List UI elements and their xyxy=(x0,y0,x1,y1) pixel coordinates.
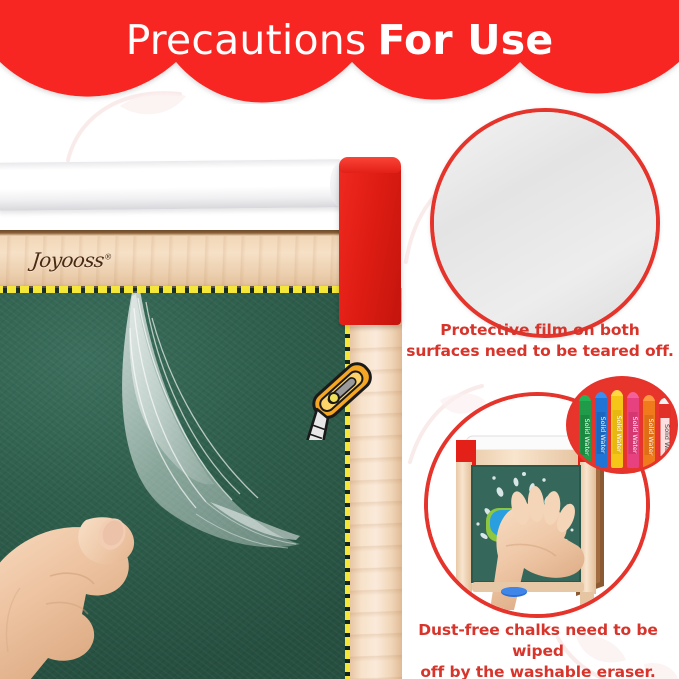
title-light: Precautions xyxy=(126,16,367,64)
title-bold: For Use xyxy=(378,16,554,64)
step-2-caption: Dust-free chalks need to be wiped off by… xyxy=(396,620,679,679)
corner-cap xyxy=(339,160,401,325)
brand-logo: Joyooss® xyxy=(31,248,113,272)
svg-text:Solid Water: Solid Water xyxy=(615,415,623,452)
step-1-caption-line2: surfaces need to be teared off. xyxy=(404,341,676,362)
brand-name: Joyooss xyxy=(31,248,105,272)
step-2-caption-line1: Dust-free chalks need to be wiped xyxy=(396,620,679,662)
utility-knife-icon xyxy=(296,344,388,440)
step-1-photo xyxy=(430,108,660,338)
paper-roll xyxy=(0,159,346,211)
brand-trademark: ® xyxy=(104,252,112,261)
chalk-markers-inset: Solid Water Solid Water Solid Water xyxy=(566,376,678,474)
svg-text:Solid Water: Solid Water xyxy=(647,418,655,455)
corner-cap-top xyxy=(339,157,401,173)
step-1-caption-line1: Protective film on both xyxy=(404,320,676,341)
svg-text:Solid Water: Solid Water xyxy=(599,416,607,453)
page-title: Precautions For Use xyxy=(0,0,679,80)
svg-text:Solid Wa: Solid Wa xyxy=(663,424,671,452)
svg-text:Solid Water: Solid Water xyxy=(583,418,591,455)
hand-peeling-film xyxy=(0,484,220,679)
step-1-caption: Protective film on both surfaces need to… xyxy=(404,320,676,362)
chalk-markers-illustration: Solid Water Solid Water Solid Water xyxy=(569,379,675,471)
infographic-canvas: Precautions For Use Joyooss® xyxy=(0,0,679,679)
main-product-photo: Joyooss® xyxy=(0,148,416,679)
film-edge-guide-horizontal xyxy=(0,286,354,293)
step-1-background xyxy=(434,112,656,334)
svg-text:Solid Water: Solid Water xyxy=(631,416,639,453)
header-banner: Precautions For Use xyxy=(0,0,679,104)
step-2-caption-line2: off by the washable eraser. xyxy=(396,662,679,679)
